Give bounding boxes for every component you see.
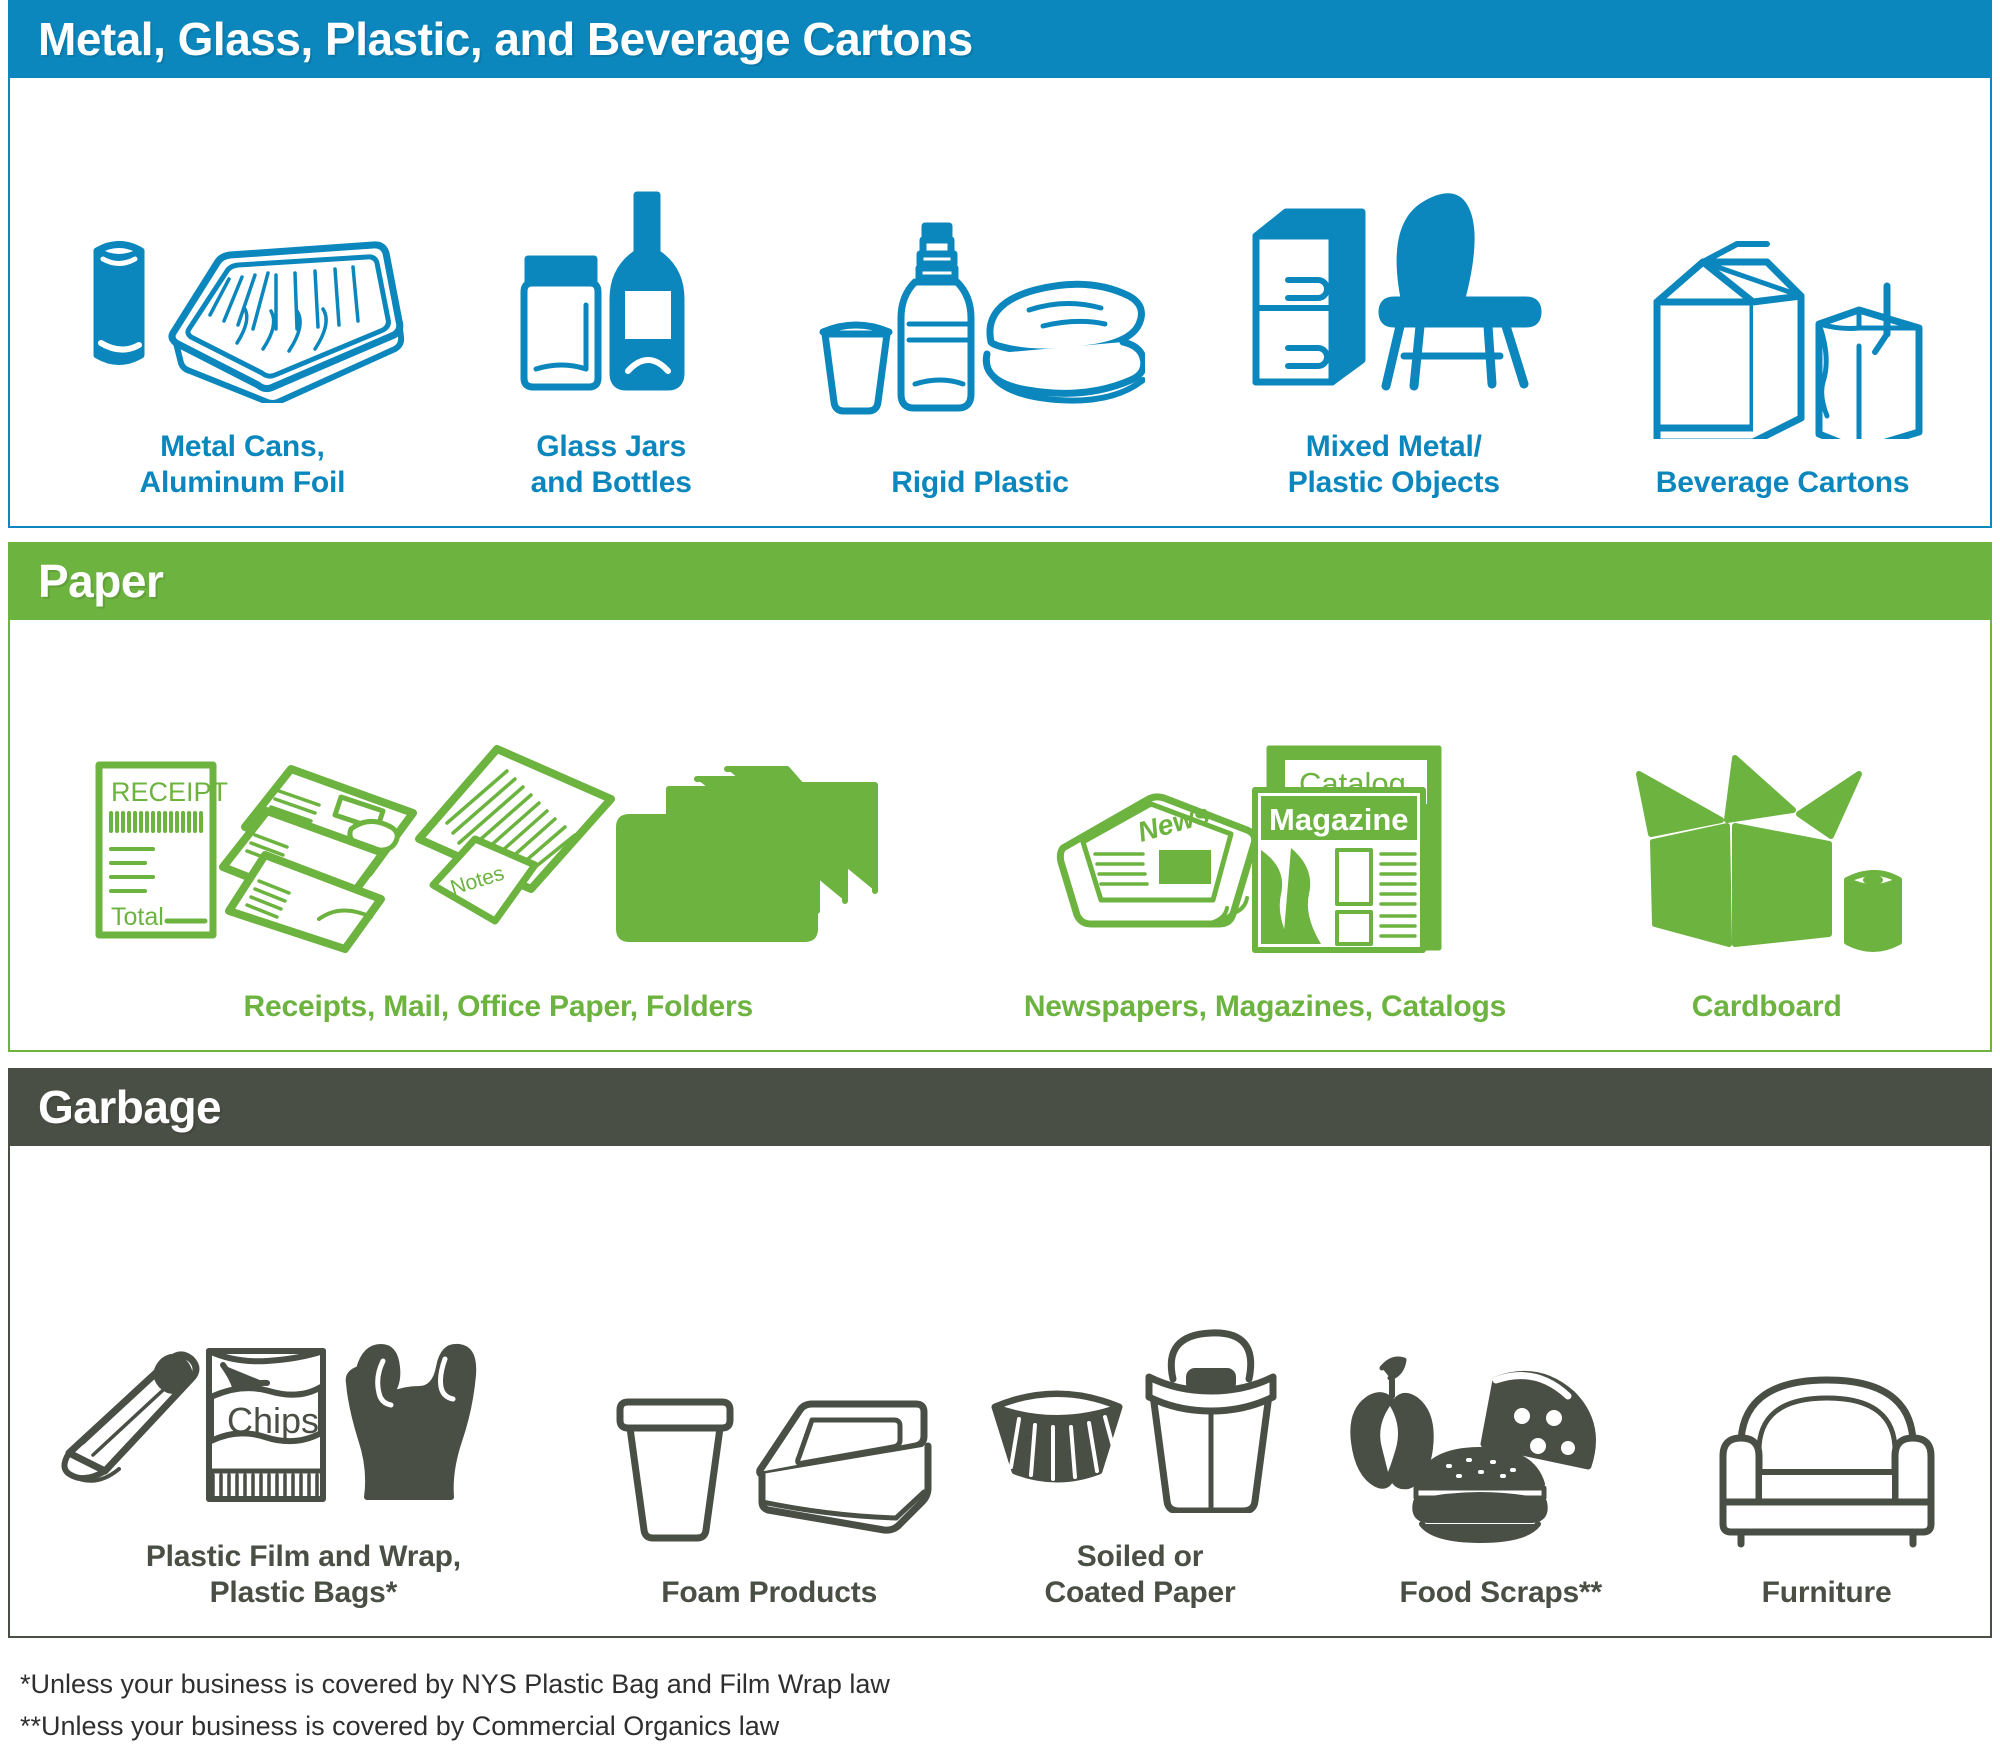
file-folders-icon <box>619 769 875 939</box>
art-cardboard <box>1617 634 1917 963</box>
newspaper-icon: News <box>1060 796 1254 923</box>
section-garbage: Garbage <box>8 1068 1992 1638</box>
footnotes: *Unless your business is covered by NYS … <box>8 1638 1992 1748</box>
caption-beverage-cartons: Beverage Cartons <box>1656 465 1910 500</box>
plastic-bag-icon <box>349 1347 474 1497</box>
item-newspapers: News Catalog <box>1024 634 1506 1024</box>
chips-bag-icon: Chips <box>209 1351 323 1499</box>
apple-core-icon <box>1353 1359 1430 1486</box>
recycling-guide-infographic: Metal, Glass, Plastic, and Beverage Cart… <box>0 0 2000 1762</box>
foil-tray-icon <box>172 245 401 403</box>
item-foam-products: Foam Products <box>604 1160 934 1610</box>
paper-liner-icon <box>995 1394 1119 1479</box>
section-metal-glass-plastic-cartons: Metal, Glass, Plastic, and Beverage Cart… <box>8 0 1992 528</box>
section-body-blue: Metal Cans, Aluminum Foil <box>8 78 1992 528</box>
caption-office-paper: Receipts, Mail, Office Paper, Folders <box>244 989 753 1024</box>
envelopes-icon <box>223 769 413 949</box>
magazine-cover-text: Magazine <box>1269 802 1409 837</box>
milk-carton-icon <box>1657 244 1801 439</box>
filing-cabinet-icon <box>1256 212 1362 382</box>
caption-newspapers: Newspapers, Magazines, Catalogs <box>1024 989 1506 1024</box>
foam-clamshell-icon <box>760 1404 928 1530</box>
cardboard-box-icon <box>1639 758 1859 944</box>
art-foam-products <box>604 1160 934 1549</box>
item-mixed-objects: Mixed Metal/ Plastic Objects <box>1244 92 1544 500</box>
item-plastic-film: Chips Plastic Film and Wra <box>53 1160 553 1610</box>
foam-cup-icon <box>620 1402 730 1538</box>
item-food-scraps: Food Scraps** <box>1346 1160 1656 1610</box>
receipt-total-text: Total <box>111 903 164 931</box>
art-glass-jars <box>506 92 716 403</box>
receipt-icon: RECEIPT Total <box>99 765 228 935</box>
art-rigid-plastic <box>815 92 1145 439</box>
item-rigid-plastic: Rigid Plastic <box>815 92 1145 500</box>
art-newspapers: News Catalog <box>1055 634 1475 963</box>
can-icon <box>97 245 141 362</box>
art-food-scraps <box>1346 1160 1656 1549</box>
section-title: Garbage <box>38 1080 221 1134</box>
caption-metal-cans: Metal Cans, Aluminum Foil <box>140 429 346 500</box>
caption-foam-products: Foam Products <box>661 1575 877 1610</box>
chair-icon <box>1382 197 1538 386</box>
item-cardboard: Cardboard <box>1617 634 1917 1024</box>
art-soiled-paper <box>985 1160 1295 1513</box>
item-glass-jars: Glass Jars and Bottles <box>506 92 716 500</box>
takeout-box-icon <box>1149 1333 1273 1511</box>
art-office-paper: RECEIPT Total <box>83 634 913 963</box>
section-body-gray: Chips Plastic Film and Wra <box>8 1146 1992 1638</box>
burger-icon <box>1415 1450 1544 1540</box>
spacer-2 <box>8 1052 1992 1068</box>
section-title: Paper <box>38 554 163 608</box>
caption-food-scraps: Food Scraps** <box>1400 1575 1602 1610</box>
wine-bottle-icon <box>613 195 681 387</box>
section-title: Metal, Glass, Plastic, and Beverage Cart… <box>38 12 973 66</box>
item-beverage-cartons: Beverage Cartons <box>1643 92 1923 500</box>
juice-box-icon <box>1819 286 1919 439</box>
art-mixed-objects <box>1244 92 1544 403</box>
art-furniture <box>1707 1160 1947 1549</box>
section-paper: Paper RECEIPT <box>8 542 1992 1052</box>
art-metal-cans <box>77 92 407 403</box>
caption-glass-jars: Glass Jars and Bottles <box>531 429 692 500</box>
item-metal-cans: Metal Cans, Aluminum Foil <box>77 92 407 500</box>
footnote-plastic-bag-law: *Unless your business is covered by NYS … <box>20 1664 1972 1706</box>
yogurt-cup-icon <box>823 325 889 411</box>
chips-bag-text: Chips <box>227 1400 319 1441</box>
art-plastic-film: Chips <box>53 1160 553 1513</box>
paper-tube-icon <box>1847 873 1899 949</box>
section-body-green: RECEIPT Total <box>8 620 1992 1052</box>
item-furniture: Furniture <box>1707 1160 1947 1610</box>
office-paper-icon: Notes <box>419 749 611 921</box>
armchair-icon <box>1723 1380 1931 1544</box>
caption-soiled-paper: Soiled or Coated Paper <box>1044 1539 1235 1610</box>
caption-mixed-objects: Mixed Metal/ Plastic Objects <box>1288 429 1500 500</box>
plastic-wrap-roll-icon <box>65 1355 197 1481</box>
water-bottle-icon <box>901 226 971 408</box>
receipt-heading-text: RECEIPT <box>111 777 228 807</box>
item-soiled-paper: Soiled or Coated Paper <box>985 1160 1295 1610</box>
caption-cardboard: Cardboard <box>1692 989 1842 1024</box>
art-beverage-cartons <box>1643 92 1923 439</box>
caption-rigid-plastic: Rigid Plastic <box>891 465 1068 500</box>
clamshell-container-icon <box>986 284 1143 400</box>
section-header-green: Paper <box>8 542 1992 620</box>
section-header-blue: Metal, Glass, Plastic, and Beverage Cart… <box>8 0 1992 78</box>
section-header-gray: Garbage <box>8 1068 1992 1146</box>
spacer-1 <box>8 528 1992 542</box>
glass-jar-icon <box>524 259 598 387</box>
magazine-catalog-icon: Catalog Magazine <box>1255 748 1439 950</box>
item-office-paper: RECEIPT Total <box>83 634 913 1024</box>
caption-furniture: Furniture <box>1762 1575 1892 1610</box>
caption-plastic-film: Plastic Film and Wrap, Plastic Bags* <box>146 1539 461 1610</box>
footnote-organics-law: **Unless your business is covered by Com… <box>20 1706 1972 1748</box>
